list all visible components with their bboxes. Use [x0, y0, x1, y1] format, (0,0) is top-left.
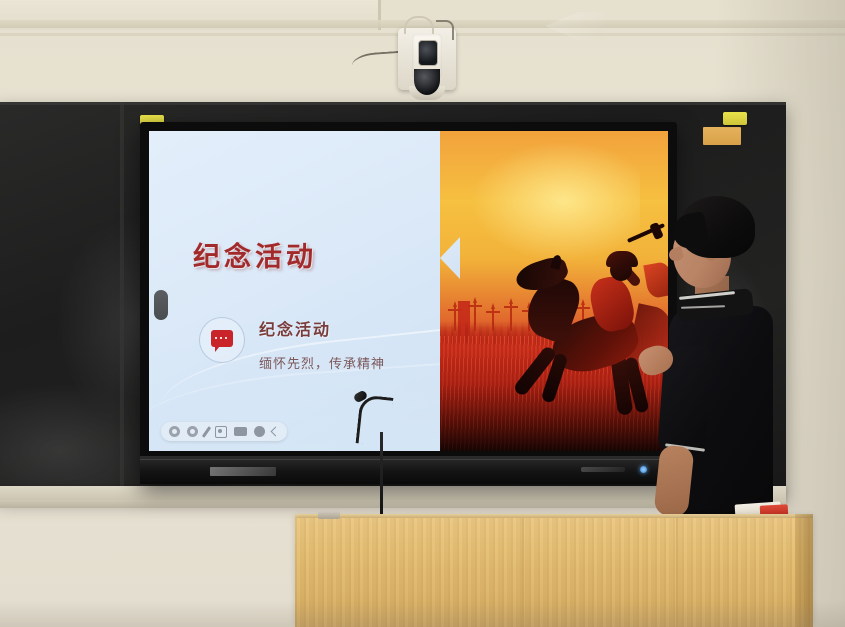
slide-title: 纪念活动	[193, 235, 317, 274]
slide-body-text: 缅怀先烈，传承精神	[259, 353, 385, 372]
display-side-control[interactable]	[154, 290, 168, 320]
slide-subtitle: 纪念活动	[259, 316, 331, 340]
yellow-label-right	[723, 112, 747, 125]
whiteboard-icon[interactable]	[234, 427, 247, 436]
shapes-icon[interactable]	[254, 426, 265, 437]
ceiling-dome-security-camera	[398, 14, 456, 92]
student-presenter	[655, 196, 787, 536]
slide-illustration	[440, 131, 668, 451]
select-region-icon[interactable]	[215, 426, 227, 438]
classroom-scene: 纪念活动 纪念活动 缅怀先烈，传承精神	[0, 0, 845, 627]
slide-bullet-badge	[199, 317, 245, 363]
interactive-flat-panel-display[interactable]: 纪念活动 纪念活动 缅怀先烈，传承精神	[140, 122, 677, 484]
microphone-gooseneck	[356, 394, 394, 446]
record-dot-icon[interactable]	[187, 426, 198, 437]
collapse-toolbar-icon[interactable]	[271, 427, 281, 437]
warrior-on-rearing-horse	[514, 233, 668, 423]
annotate-dot-icon[interactable]	[169, 426, 180, 437]
bezel-sensor-strip	[581, 467, 625, 472]
camera-lens-icon	[418, 40, 438, 66]
gooseneck-microphone	[352, 392, 392, 532]
orange-paper-right	[703, 127, 741, 145]
display-bezel-bottom	[140, 456, 677, 484]
speech-bubble-icon	[211, 330, 233, 347]
display-screen[interactable]: 纪念活动 纪念活动 缅怀先烈，传承精神	[149, 131, 668, 451]
camera-hook	[404, 16, 434, 34]
slide-left-panel	[149, 131, 440, 451]
floor-shadow	[0, 600, 845, 627]
pen-icon[interactable]	[202, 426, 211, 438]
rider-helmet	[606, 251, 638, 267]
podium-clip-hardware	[318, 511, 340, 519]
presentation-toolbar[interactable]	[161, 422, 287, 441]
blackboard-panel-divider	[120, 102, 124, 498]
speech-bubble-dots-icon	[215, 337, 229, 339]
display-brand-logo	[210, 467, 276, 476]
power-led-indicator	[640, 466, 647, 473]
bezel-highlight-line	[140, 459, 677, 460]
